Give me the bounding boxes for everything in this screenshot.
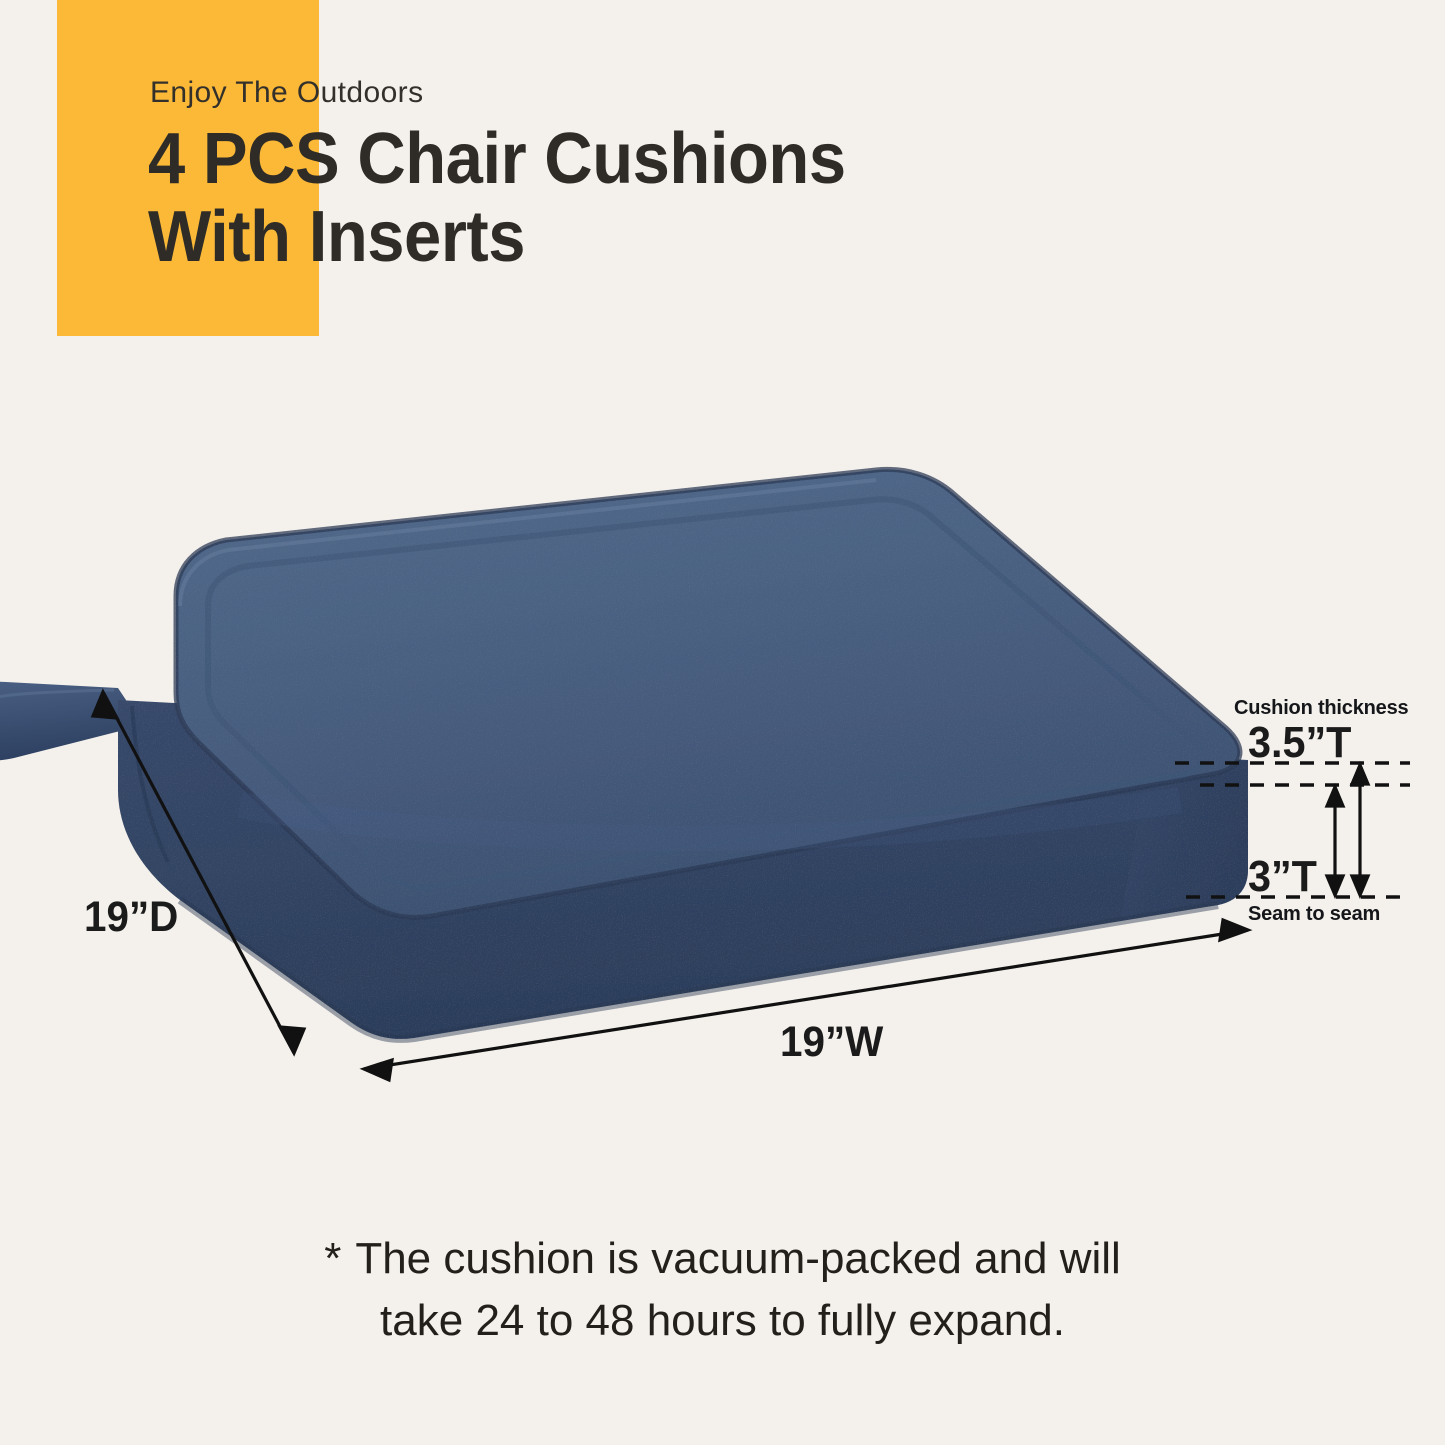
footnote-text-1: The cushion is vacuum-packed and will: [355, 1234, 1121, 1283]
product-infographic: Enjoy The Outdoors 4 PCS Chair Cushions …: [0, 0, 1445, 1445]
asterisk-icon: *: [324, 1234, 355, 1283]
cushion-thickness-caption: Cushion thickness: [1234, 697, 1408, 720]
seam-thickness-arrow: [1327, 787, 1343, 895]
cushion-body: [118, 469, 1248, 1039]
footnote-line-2: take 24 to 48 hours to fully expand.: [0, 1290, 1445, 1352]
seam-thickness-label: 3”T: [1248, 852, 1317, 902]
width-label: 19”W: [780, 1018, 883, 1067]
total-thickness-arrow: [1352, 765, 1368, 895]
cushion-handle-tab: [0, 682, 126, 761]
footnote-line-1: *The cushion is vacuum-packed and will: [0, 1228, 1445, 1290]
seam-to-seam-caption: Seam to seam: [1248, 903, 1380, 926]
depth-label: 19”D: [84, 893, 178, 942]
total-thickness-label: 3.5”T: [1248, 718, 1351, 768]
footnote: *The cushion is vacuum-packed and will t…: [0, 1228, 1445, 1352]
